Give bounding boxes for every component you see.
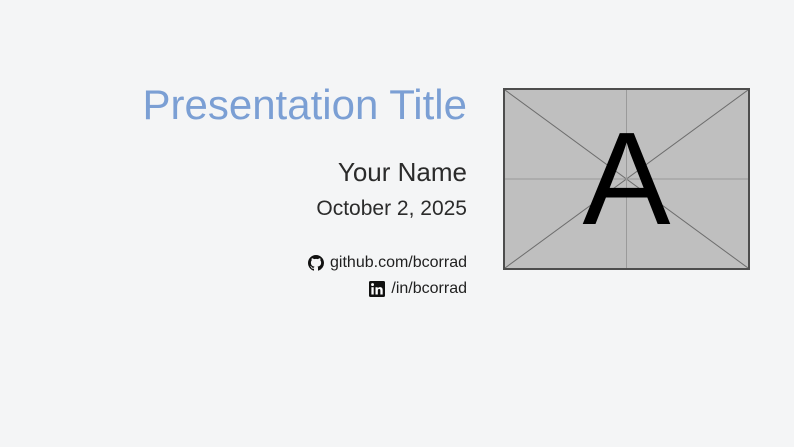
social-links: github.com/bcorrad /in/bcorrad [0,252,468,300]
presentation-date: October 2, 2025 [0,196,468,222]
github-link-label: github.com/bcorrad [330,252,467,274]
placeholder-letter: A [505,90,748,268]
page-title: Presentation Title [0,80,468,130]
author-name: Your Name [0,156,468,188]
title-text-column: Presentation Title Your Name October 2, … [0,80,468,304]
github-link[interactable]: github.com/bcorrad [0,252,468,274]
linkedin-link-label: /in/bcorrad [391,278,467,300]
github-icon [308,255,324,271]
linkedin-icon [369,281,385,297]
presentation-slide: Presentation Title Your Name October 2, … [0,0,794,447]
image-placeholder[interactable]: A [503,88,750,270]
linkedin-link[interactable]: /in/bcorrad [0,278,468,300]
